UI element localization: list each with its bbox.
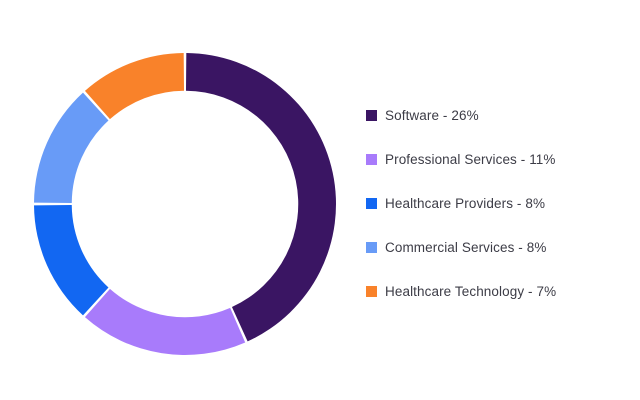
legend-item-label: Healthcare Providers - 8% — [385, 196, 545, 212]
donut-slice[interactable] — [85, 53, 184, 119]
legend-item[interactable]: Healthcare Providers - 8% — [366, 192, 616, 215]
legend-item-label: Healthcare Technology - 7% — [385, 284, 556, 300]
donut-chart: Software - 26%Professional Services - 11… — [0, 0, 640, 400]
legend-color-swatch — [366, 242, 377, 253]
donut-slice[interactable] — [34, 205, 108, 315]
donut-slice[interactable] — [186, 53, 336, 341]
donut-plot-area — [33, 52, 337, 356]
chart-legend: Software - 26%Professional Services - 11… — [366, 104, 616, 303]
legend-item[interactable]: Professional Services - 11% — [366, 148, 616, 171]
donut-slice-group — [34, 53, 336, 355]
legend-item-label: Software - 26% — [385, 108, 479, 124]
legend-item[interactable]: Commercial Services - 8% — [366, 236, 616, 259]
legend-item[interactable]: Healthcare Technology - 7% — [366, 280, 616, 303]
legend-item[interactable]: Software - 26% — [366, 104, 616, 127]
donut-slice[interactable] — [85, 289, 245, 355]
donut-slice[interactable] — [34, 93, 108, 203]
legend-color-swatch — [366, 110, 377, 121]
legend-item-label: Professional Services - 11% — [385, 152, 556, 168]
legend-color-swatch — [366, 286, 377, 297]
legend-color-swatch — [366, 198, 377, 209]
donut-svg — [33, 52, 337, 356]
legend-item-label: Commercial Services - 8% — [385, 240, 546, 256]
legend-color-swatch — [366, 154, 377, 165]
